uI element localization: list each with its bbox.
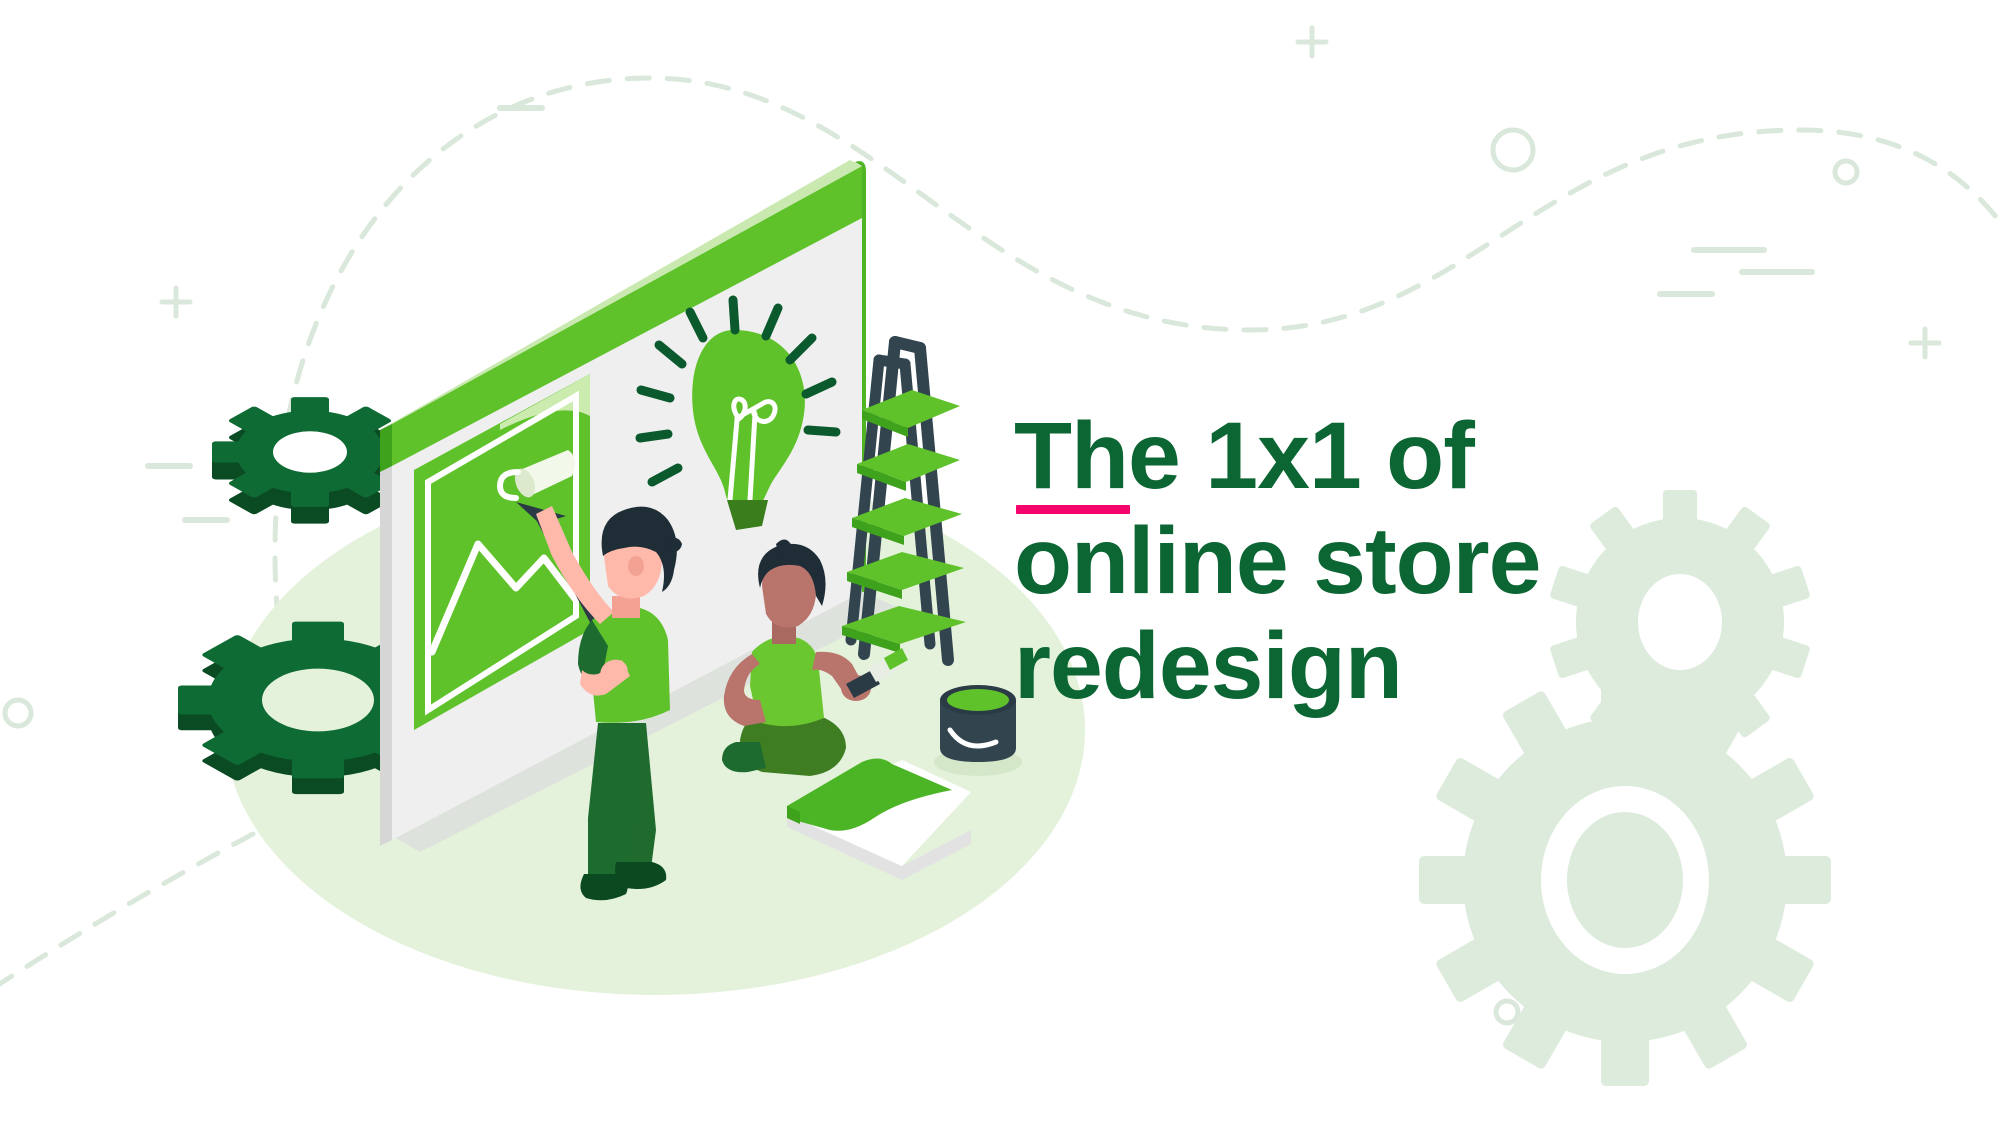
painter-shoe-front — [580, 874, 627, 900]
board-left-edge — [380, 424, 392, 846]
ladder-front-top-bar — [895, 342, 920, 348]
page-title: The 1x1 of online store redesign — [1014, 404, 1574, 719]
hero-banner: The 1x1 of online store redesign — [0, 0, 2000, 1125]
headline-line-1: The 1x1 of — [1014, 404, 1574, 509]
headline-line-2: online store — [1014, 509, 1574, 614]
board-green-bar-left-cap — [380, 424, 392, 472]
gear-small-dark-icon — [212, 397, 408, 524]
paint-bucket-icon — [934, 685, 1022, 776]
headline-accent-underline — [1016, 505, 1130, 514]
painter-neck — [612, 596, 640, 618]
kneeler-foot — [722, 742, 766, 772]
bucket-paint-surface — [947, 689, 1009, 711]
redesign-illustration — [0, 0, 2000, 1125]
painter-ear — [628, 556, 644, 576]
headline-line-3: redesign — [1014, 614, 1574, 719]
